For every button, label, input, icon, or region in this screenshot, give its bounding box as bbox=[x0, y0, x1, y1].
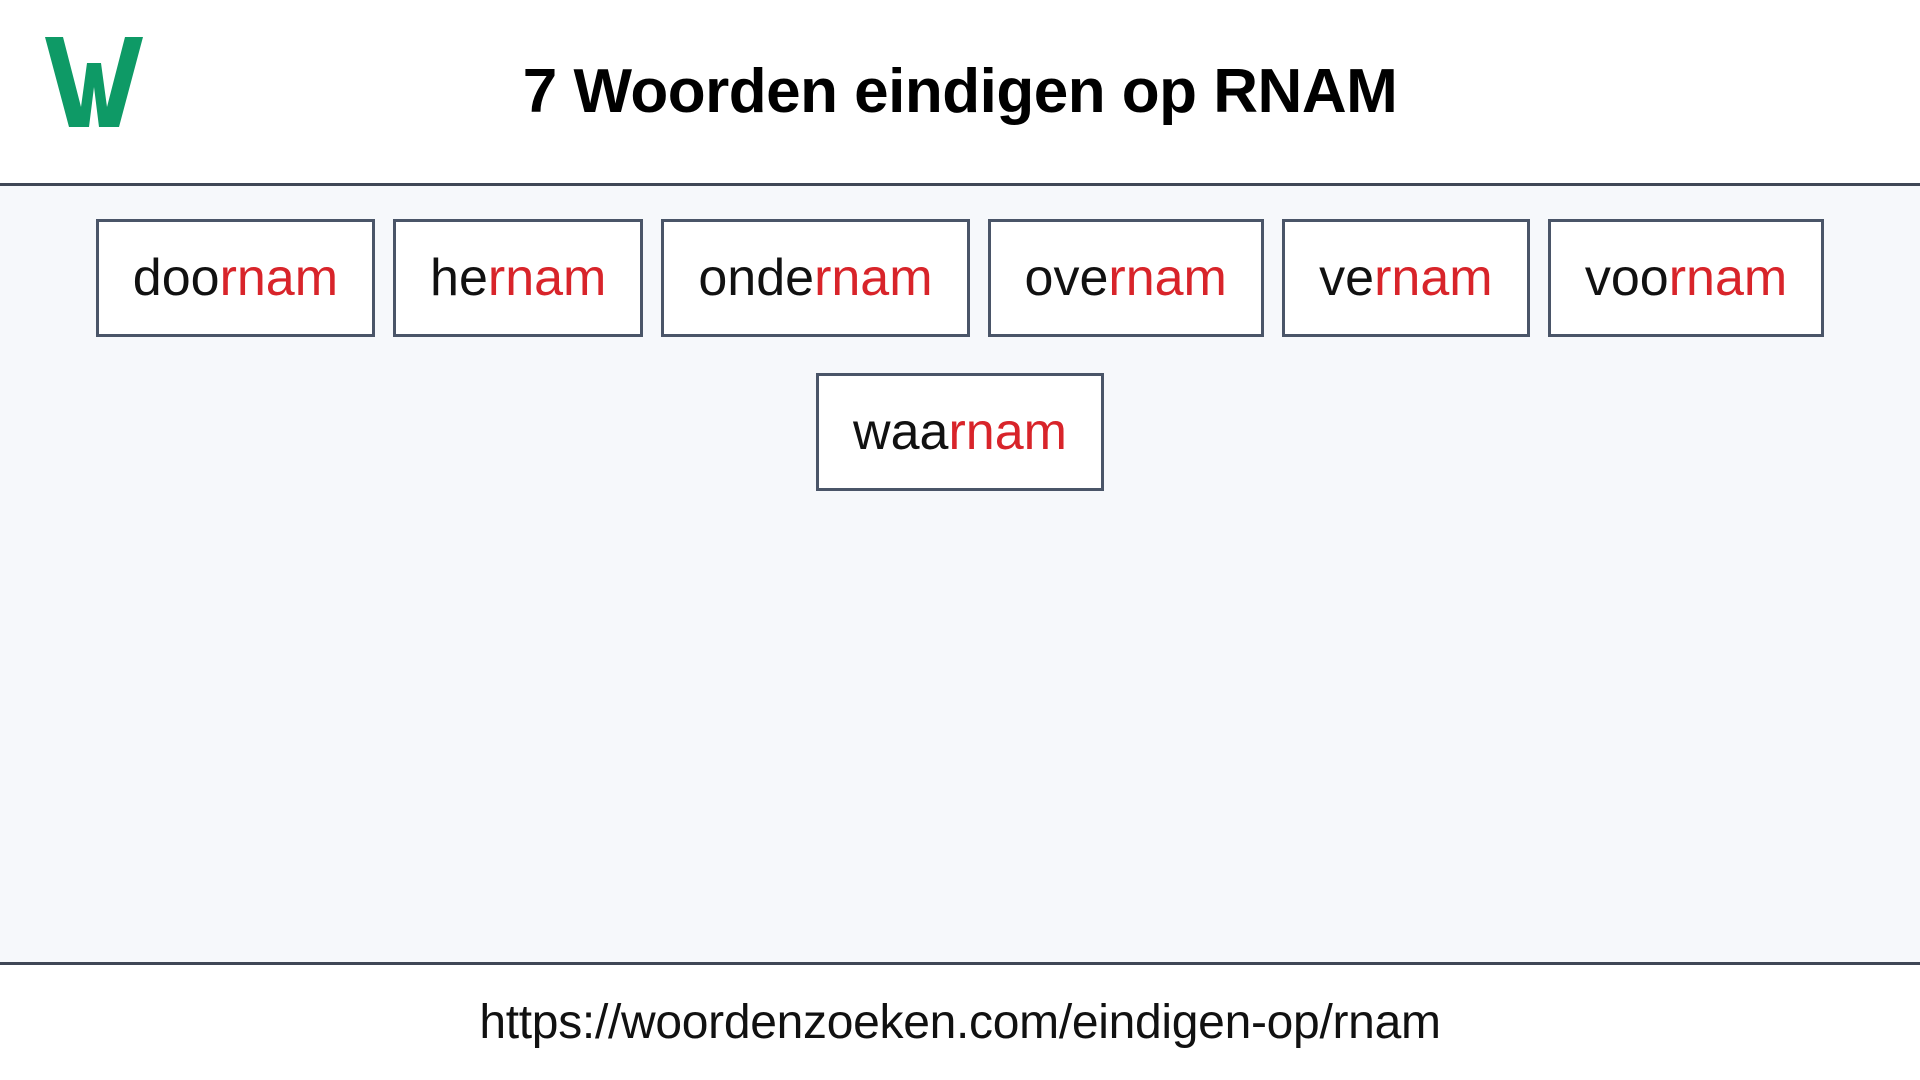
word-prefix: doo bbox=[133, 252, 220, 304]
word-prefix: waa bbox=[853, 406, 948, 458]
word-box[interactable]: overnam bbox=[988, 219, 1264, 337]
word-box[interactable]: voornam bbox=[1548, 219, 1824, 337]
word-suffix: rnam bbox=[1669, 252, 1787, 304]
word-prefix: ve bbox=[1319, 252, 1374, 304]
word-grid: doornam hernam ondernam overnam vernam v… bbox=[0, 210, 1920, 491]
word-box[interactable]: waarnam bbox=[816, 373, 1104, 491]
word-box[interactable]: doornam bbox=[96, 219, 375, 337]
word-suffix: rnam bbox=[1374, 252, 1492, 304]
page-footer: https://woordenzoeken.com/eindigen-op/rn… bbox=[0, 965, 1920, 1080]
word-box[interactable]: ondernam bbox=[661, 219, 969, 337]
word-box[interactable]: vernam bbox=[1282, 219, 1530, 337]
word-prefix: he bbox=[430, 252, 488, 304]
word-suffix: rnam bbox=[220, 252, 338, 304]
word-prefix: onde bbox=[698, 252, 814, 304]
word-box[interactable]: hernam bbox=[393, 219, 643, 337]
word-suffix: rnam bbox=[948, 406, 1066, 458]
woordenzoeken-logo-icon[interactable] bbox=[36, 26, 156, 136]
page-root: 7 Woorden eindigen op RNAM doornam herna… bbox=[0, 0, 1920, 1080]
word-suffix: rnam bbox=[814, 252, 932, 304]
footer-url[interactable]: https://woordenzoeken.com/eindigen-op/rn… bbox=[479, 995, 1440, 1050]
word-suffix: rnam bbox=[488, 252, 606, 304]
word-prefix: voo bbox=[1585, 252, 1669, 304]
page-title: 7 Woorden eindigen op RNAM bbox=[0, 59, 1920, 124]
word-prefix: ove bbox=[1025, 252, 1109, 304]
page-header: 7 Woorden eindigen op RNAM bbox=[0, 0, 1920, 186]
results-area: doornam hernam ondernam overnam vernam v… bbox=[0, 186, 1920, 965]
word-suffix: rnam bbox=[1108, 252, 1226, 304]
